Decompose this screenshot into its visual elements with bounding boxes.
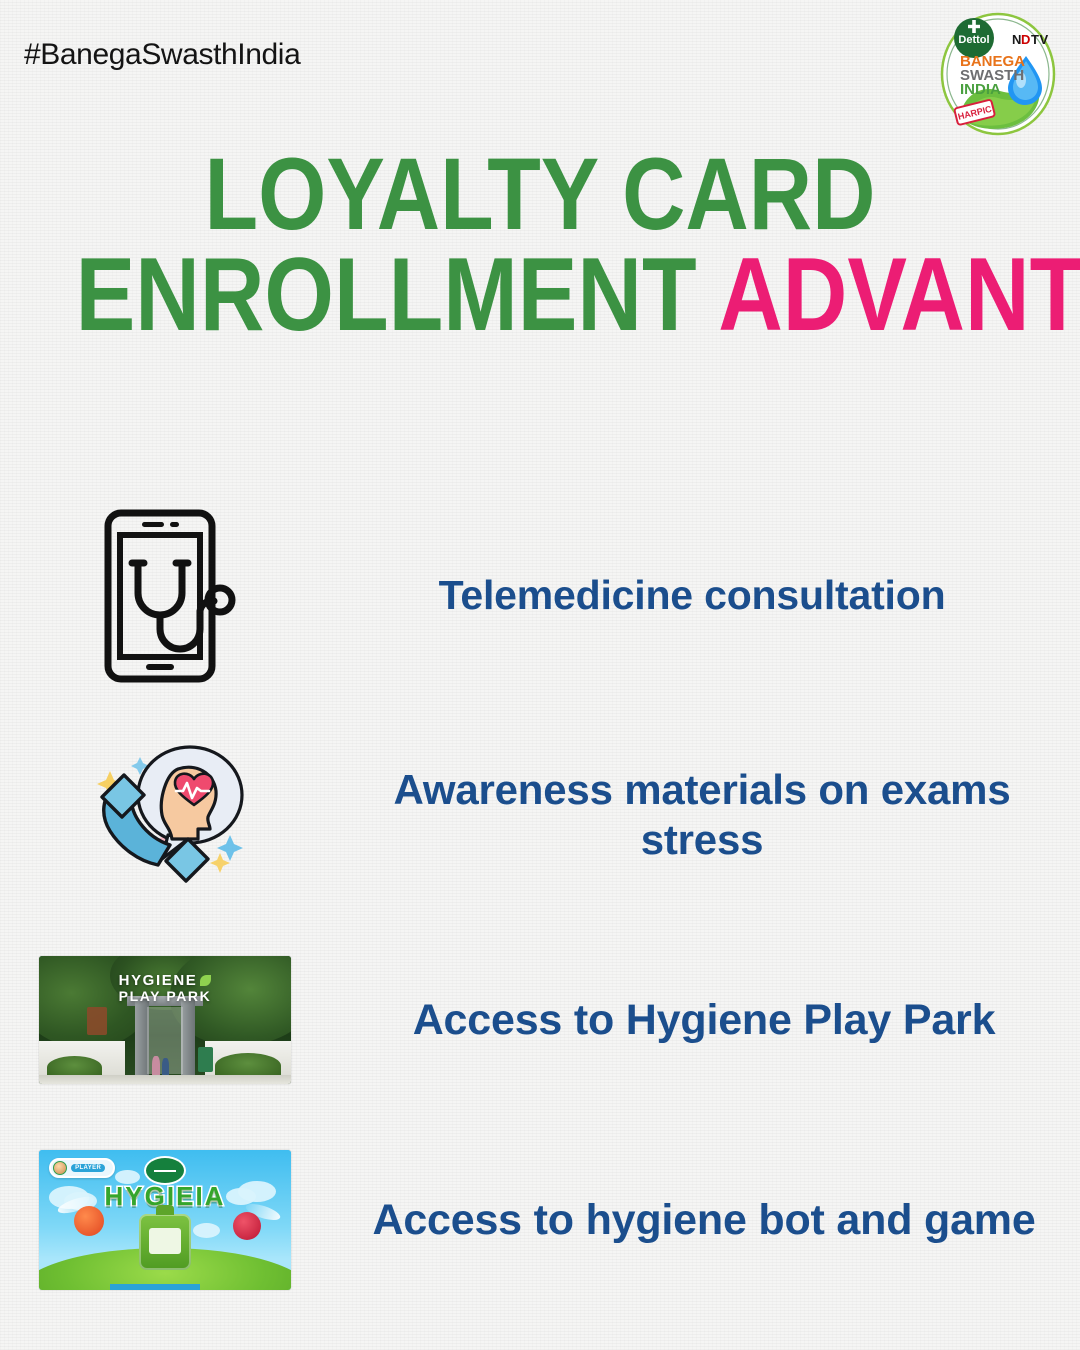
germ-character-red [233,1212,261,1240]
svg-text:INDIA: INDIA [960,81,1001,98]
park-photo-overlay-text: HYGIENE PLAY PARK [39,973,291,1004]
benefit-row-play-park: HYGIENE PLAY PARK Access to Hygiene Play… [0,940,1080,1100]
poster-canvas: #BanegaSwasthIndia Dettol N D TV BANEGA … [0,0,1080,1350]
title-enrollment: ENROLLMENT [76,237,697,353]
benefit-media-3: HYGIENE PLAY PARK [0,956,330,1084]
benefit-row-hygiene-game: HYGIEIA PLAYER Access to hygiene bot and… [0,1140,1080,1300]
svg-text:Dettol: Dettol [958,34,989,46]
benefit-caption-4: Access to hygiene bot and game [330,1195,1080,1246]
avatar [53,1161,67,1175]
title-line-1: LOYALTY CARD [76,148,1005,242]
benefit-caption-3: Access to Hygiene Play Park [330,995,1080,1046]
banega-swasth-india-logo: Dettol N D TV BANEGA SWASTH INDIA HARPIC [934,8,1062,140]
benefit-caption-1: Telemedicine consultation [330,571,1080,619]
benefit-media-1 [0,505,330,687]
hygiene-play-park-photo: HYGIENE PLAY PARK [39,956,291,1084]
svg-text:TV: TV [1031,32,1049,47]
dettol-bottle-character [139,1214,191,1270]
benefit-row-telemedicine: Telemedicine consultation [0,498,1080,693]
player-label: PLAYER [71,1164,105,1172]
benefit-row-awareness: Awareness materials on exams stress [0,722,1080,907]
dettol-badge-icon [146,1158,184,1183]
benefit-media-2 [0,735,330,895]
park-text-line-2: PLAY PARK [39,989,291,1004]
title-line-2: ENROLLMENT ADVANTAGE [76,248,1005,344]
benefit-caption-2: Awareness materials on exams stress [330,765,1080,864]
page-title: LOYALTY CARD ENROLLMENT ADVANTAGE [0,148,1080,344]
title-advantage: ADVANTAGE [718,237,1080,353]
leaf-icon [200,975,211,986]
hashtag-label: #BanegaSwasthIndia [24,38,300,72]
phone-mental-health-icon [70,735,260,895]
svg-text:D: D [1021,32,1031,47]
park-text-line-1: HYGIENE [119,972,198,989]
hygieia-game-screenshot: HYGIEIA PLAYER [39,1150,291,1290]
benefit-media-4: HYGIEIA PLAYER [0,1150,330,1290]
telemedicine-phone-stethoscope-icon [90,505,240,687]
game-player-badge: PLAYER [49,1158,115,1178]
